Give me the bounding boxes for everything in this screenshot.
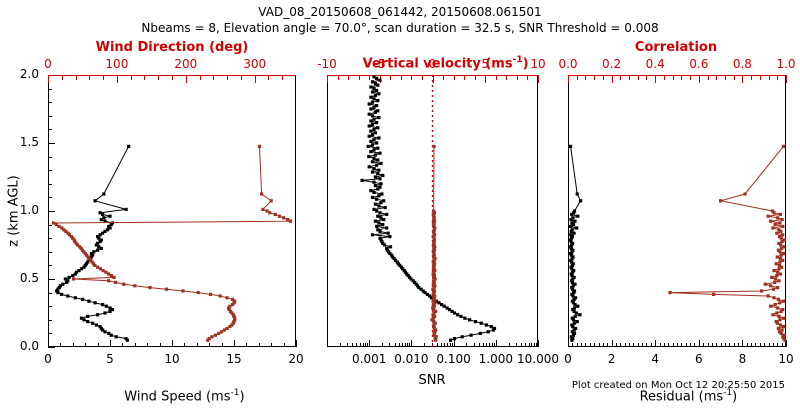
vad-plot-figure: VAD_08_20150608_061442, 20150608.061501 … <box>0 0 800 400</box>
data-series-overlay <box>0 0 800 400</box>
series-residual <box>569 145 583 342</box>
series-correlation <box>668 145 786 342</box>
series-wind-direction <box>52 145 292 342</box>
series-snr <box>361 75 497 342</box>
series-wind-speed <box>55 145 130 342</box>
series-vertical-velocity <box>430 145 437 342</box>
